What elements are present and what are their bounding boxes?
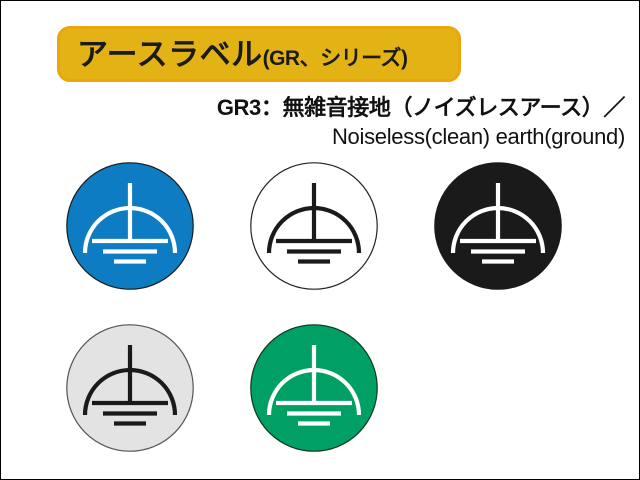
noiseless-clean-earth-symbol: [249, 161, 379, 291]
earth-label-white: [249, 161, 379, 291]
slide-canvas: アースラベル(GR、シリーズ) GR3：無雑音接地（ノイズレスアース）／ Noi…: [0, 0, 640, 480]
title-banner-text: アースラベル(GR、シリーズ): [77, 39, 408, 70]
title-banner: アースラベル(GR、シリーズ): [57, 26, 461, 82]
noiseless-clean-earth-symbol: [433, 161, 563, 291]
subtitle-line-japanese: GR3：無雑音接地（ノイズレスアース）／: [1, 93, 625, 122]
title-main: アースラベル: [77, 39, 263, 70]
earth-label-black: [433, 161, 563, 291]
earth-label-blue: [65, 161, 195, 291]
earth-label-grid: [65, 161, 605, 480]
noiseless-clean-earth-symbol: [65, 323, 195, 453]
noiseless-clean-earth-symbol: [65, 161, 195, 291]
subtitle-block: GR3：無雑音接地（ノイズレスアース）／ Noiseless(clean) ea…: [1, 93, 633, 151]
noiseless-clean-earth-symbol: [249, 323, 379, 453]
earth-label-row-top: [65, 161, 605, 291]
earth-label-grey: [65, 323, 195, 453]
title-sub: (GR、シリーズ): [263, 48, 408, 69]
earth-label-green: [249, 323, 379, 453]
earth-label-row-bottom: [65, 323, 605, 453]
subtitle-line-english: Noiseless(clean) earth(ground): [1, 122, 625, 151]
